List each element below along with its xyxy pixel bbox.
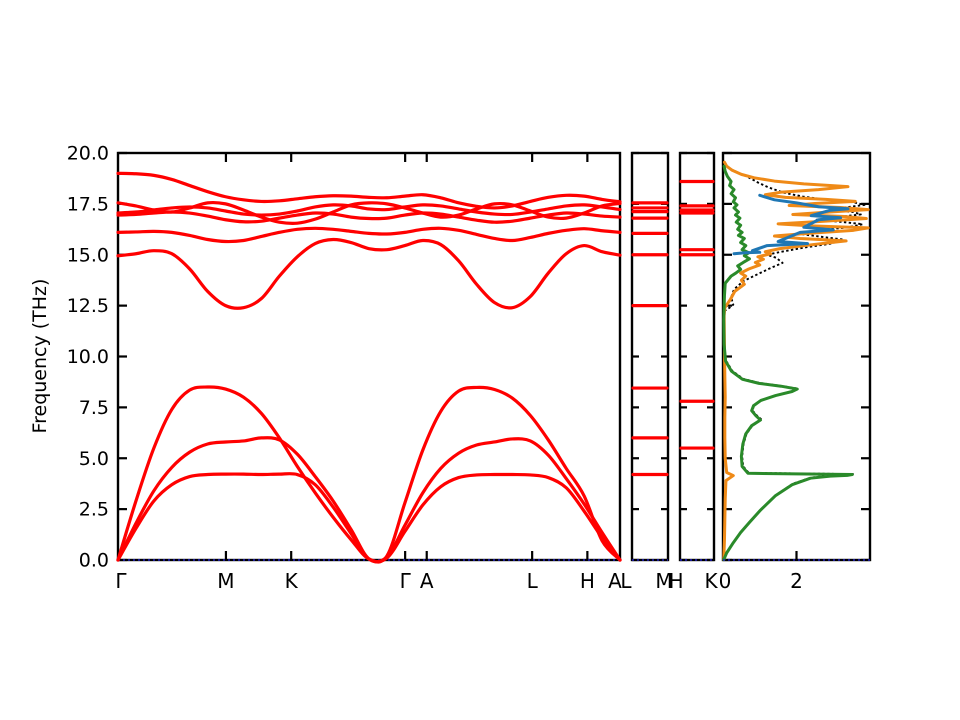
dos-x-label-0: 0 bbox=[719, 569, 732, 593]
dos-x-label-2: 2 bbox=[790, 569, 803, 593]
main-x-label-Γ: Γ bbox=[400, 569, 412, 593]
y-tick-labels: 0.02.55.07.510.012.515.017.520.0 bbox=[67, 143, 109, 572]
y-tick-label: 15.0 bbox=[67, 244, 109, 266]
main-x-label-Γ: Γ bbox=[115, 569, 127, 593]
main-band-panel bbox=[118, 153, 620, 562]
y-tick-label: 0.0 bbox=[79, 550, 109, 572]
panel3-x-label-left: H bbox=[668, 569, 683, 593]
flat-panel-lm bbox=[632, 153, 668, 560]
phonon-figure: Frequency (THz) 0.02.55.07.510.012.515.0… bbox=[0, 0, 960, 720]
x-tick-labels: ΓMKΓALHALMHK02 bbox=[115, 569, 802, 593]
panel2-x-label-left: L bbox=[620, 569, 632, 593]
y-tick-label: 5.0 bbox=[79, 448, 109, 470]
panel3-x-label-right: K bbox=[704, 569, 718, 593]
band-curve bbox=[118, 228, 620, 241]
band-curve bbox=[118, 239, 620, 308]
y-tick-label: 20.0 bbox=[67, 143, 109, 165]
main-x-label-L: L bbox=[527, 569, 539, 593]
dos-curve-partial-dos-1 bbox=[724, 162, 868, 559]
main-x-label-H: H bbox=[580, 569, 595, 593]
figure-canvas: Frequency (THz) 0.02.55.07.510.012.515.0… bbox=[0, 0, 960, 720]
y-tick-label: 7.5 bbox=[79, 397, 109, 419]
y-tick-label: 17.5 bbox=[67, 193, 109, 215]
main-x-label-K: K bbox=[285, 569, 299, 593]
band-curve bbox=[118, 474, 620, 562]
y-tick-label: 2.5 bbox=[79, 499, 109, 521]
y-axis-title: Frequency (THz) bbox=[29, 279, 51, 434]
flat-panel-hk bbox=[680, 153, 714, 560]
y-tick-label: 10.0 bbox=[67, 346, 109, 368]
main-x-label-A: A bbox=[420, 569, 434, 593]
dos-panel bbox=[723, 153, 870, 560]
y-tick-label: 12.5 bbox=[67, 295, 109, 317]
band-curve bbox=[118, 438, 620, 562]
main-x-label-M: M bbox=[217, 569, 234, 593]
